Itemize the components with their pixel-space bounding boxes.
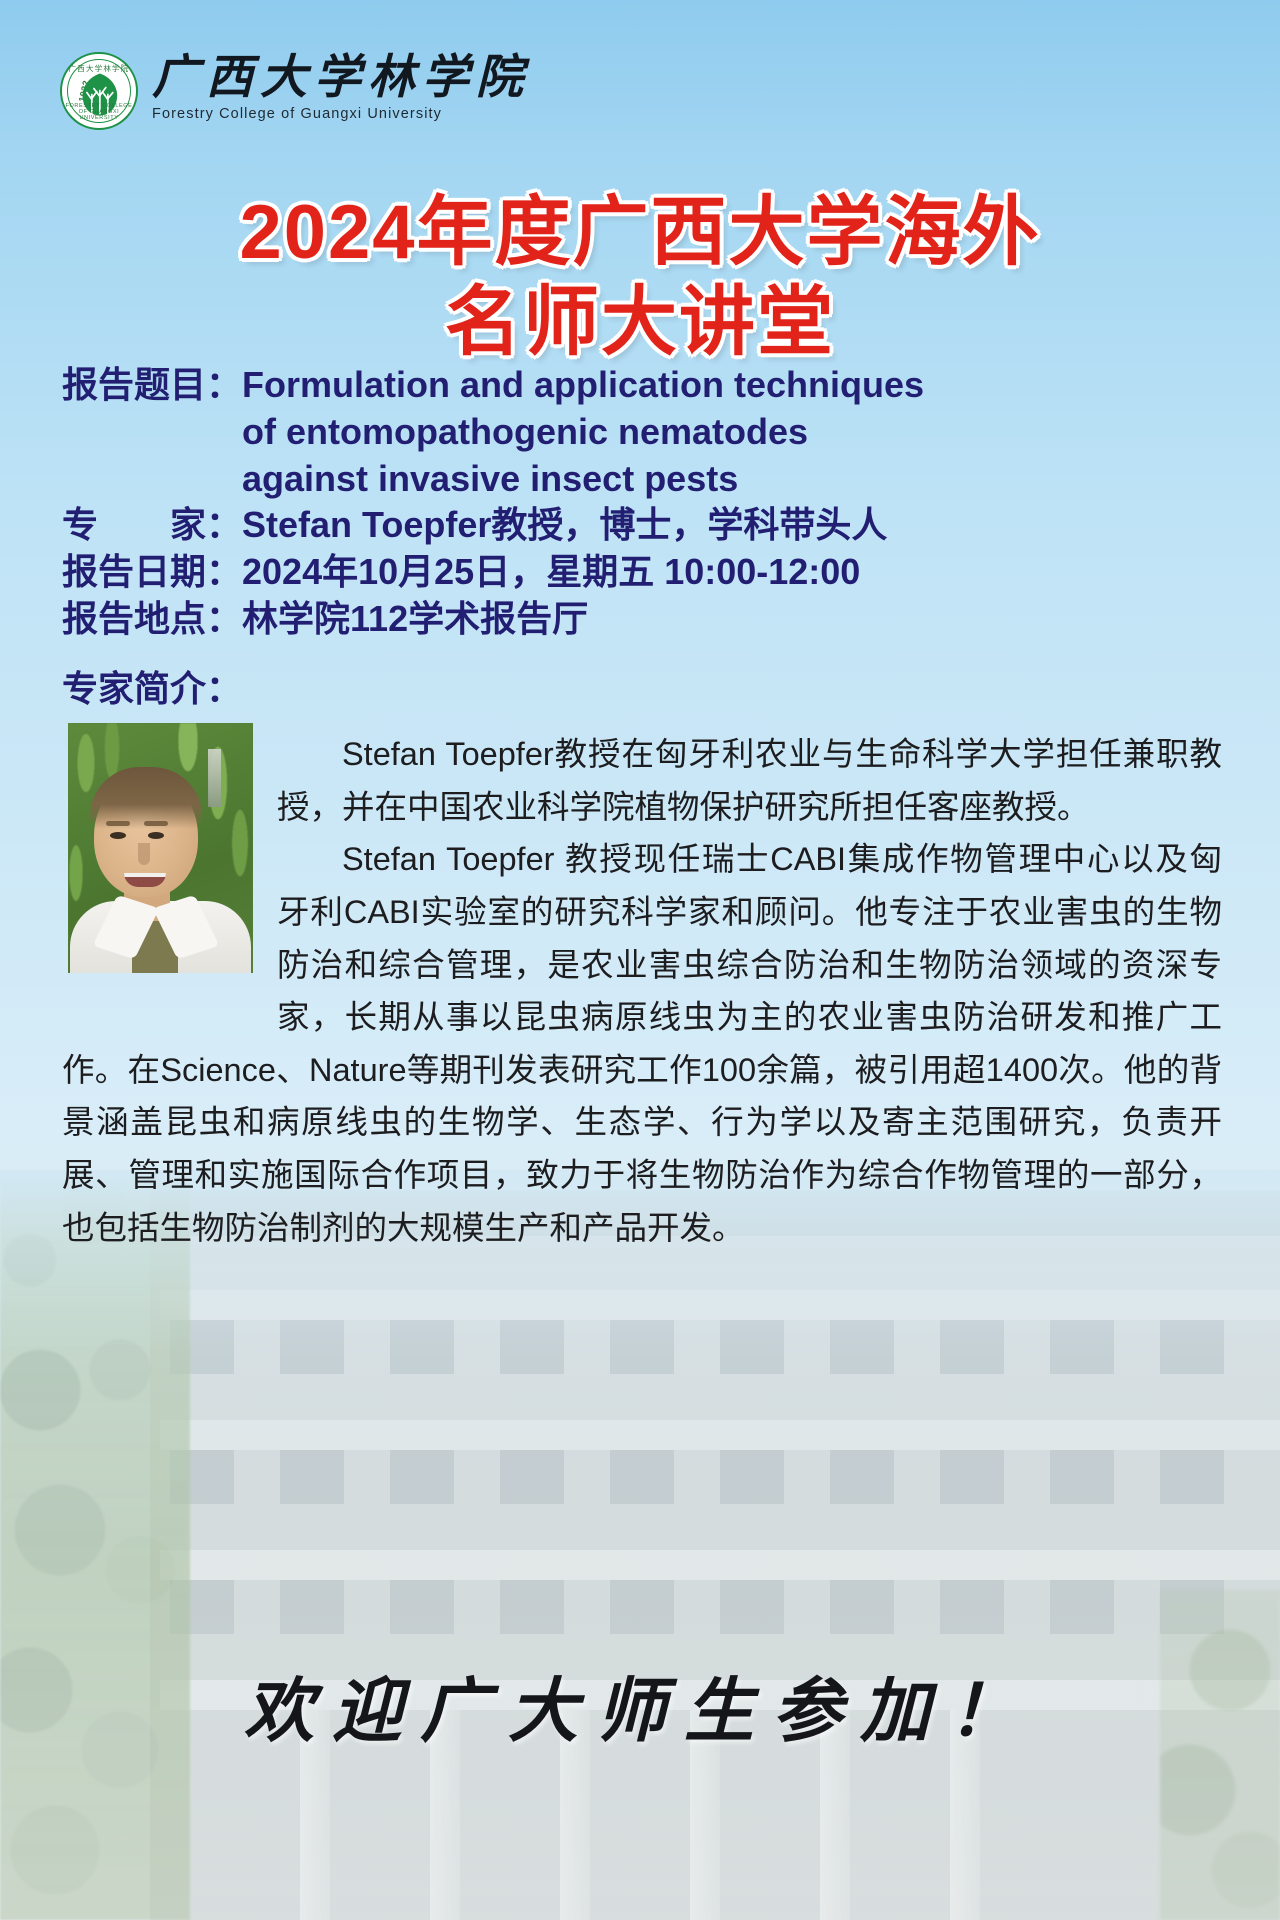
speaker-row: 专 家：Stefan Toepfer教授，博士，学科带头人 [62, 502, 1022, 549]
poster-root: 广西大学林学院 1932 FORESTRY COLLEGE OF GUANGXI… [0, 0, 1280, 1920]
topic-row: 报告题目：Formulation and application techniq… [62, 362, 1022, 409]
campus-building-background [0, 1170, 1280, 1920]
bio-paragraph-1: Stefan Toepfer教授在匈牙利农业与生命科学大学担任兼职教授，并在中国… [62, 728, 1222, 833]
speaker-label: 专 家： [62, 504, 242, 545]
university-logo: 广西大学林学院 1932 FORESTRY COLLEGE OF GUANGXI… [60, 52, 530, 130]
logo-chinese-name: 广西大学林学院 [152, 54, 530, 103]
seal-arc-bottom-text: FORESTRY COLLEGE OF GUANGXI UNIVERSITY [62, 103, 136, 121]
title-line-2: 名师大讲堂 [0, 278, 1280, 368]
venue-label: 报告地点： [62, 598, 242, 639]
topic-line-1: Formulation and application techniques [242, 364, 924, 405]
venue-row: 报告地点：林学院112学术报告厅 [62, 596, 1022, 643]
photo-text-wrap-shim [62, 833, 277, 991]
topic-label: 报告题目： [62, 364, 242, 405]
title-line-1: 2024年度广西大学海外 [239, 190, 1040, 275]
date-value: 2024年10月25日，星期五 10:00-12:00 [242, 551, 860, 592]
logo-english-name: Forestry College of Guangxi University [152, 106, 530, 122]
topic-line-3: against invasive insect pests [62, 456, 1022, 503]
page-title: 2024年度广西大学海外 名师大讲堂 [0, 188, 1280, 367]
bio-heading: 专家简介： [62, 660, 242, 712]
event-info-block: 报告题目：Formulation and application techniq… [62, 362, 1022, 643]
venue-value: 林学院112学术报告厅 [242, 598, 588, 639]
speaker-biography: Stefan Toepfer教授在匈牙利农业与生命科学大学担任兼职教授，并在中国… [62, 728, 1222, 1254]
speaker-value: Stefan Toepfer教授，博士，学科带头人 [242, 504, 887, 545]
topic-line-2: of entomopathogenic nematodes [62, 409, 1022, 456]
date-label: 报告日期： [62, 551, 242, 592]
date-row: 报告日期：2024年10月25日，星期五 10:00-12:00 [62, 549, 1022, 596]
university-seal-icon: 广西大学林学院 1932 FORESTRY COLLEGE OF GUANGXI… [60, 52, 138, 130]
welcome-calligraphy: 欢迎广大师生参加！ [0, 1655, 1280, 1756]
bio-paragraph-2: Stefan Toepfer 教授现任瑞士CABI集成作物管理中心以及匈牙利CA… [62, 833, 1222, 1254]
